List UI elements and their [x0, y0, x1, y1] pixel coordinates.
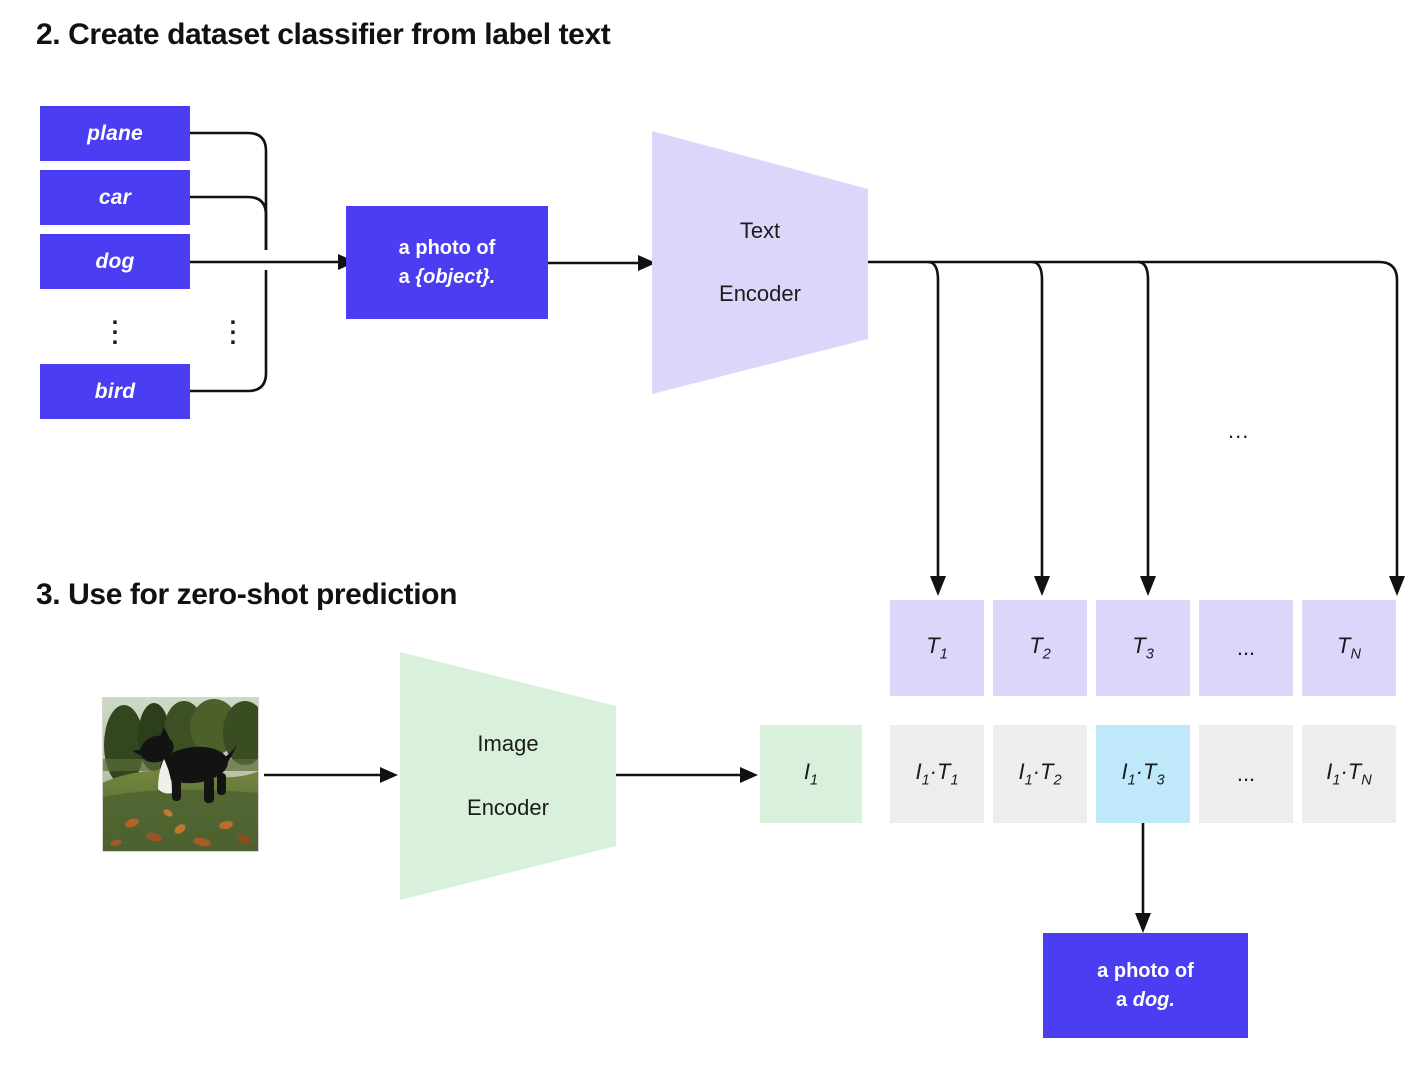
text-embedding-cell-ellipsis: ... [1199, 600, 1293, 696]
prediction-line-1: a photo of [1097, 957, 1194, 986]
prediction-line-2-class: dog. [1133, 989, 1175, 1011]
step3-heading: 3. Use for zero-shot prediction [36, 578, 457, 612]
prediction-output-box[interactable]: a photo of a dog. [1043, 933, 1248, 1038]
similarity-cell-3-highlighted[interactable]: I1·T3 [1096, 725, 1190, 823]
similarity-cell-2[interactable]: I1·T2 [993, 725, 1087, 823]
arrowhead-to-t2 [1034, 576, 1050, 596]
arrow-image-encoder-to-embedding [616, 762, 764, 788]
text-embedding-label-2: T2 [1029, 633, 1051, 662]
prediction-line-2: a dog. [1116, 986, 1175, 1015]
input-photo-thumbnail[interactable] [102, 697, 259, 852]
similarity-cell-ellipsis: ... [1199, 725, 1293, 823]
text-encoder-label: Text Encoder [652, 131, 868, 394]
image-encoder-line-2: Encoder [467, 792, 549, 824]
arrowhead-to-tn [1389, 576, 1405, 596]
clip-diagram-canvas: 2. Create dataset classifier from label … [0, 0, 1416, 1066]
prompt-template-box[interactable]: a photo of a {object}. [346, 206, 548, 319]
arrowhead-to-t3 [1140, 576, 1156, 596]
text-embedding-label-1: T1 [926, 633, 948, 662]
arrowhead-to-t1 [930, 576, 946, 596]
image-embedding-label: I1 [804, 759, 818, 788]
similarity-cell-1[interactable]: I1·T1 [890, 725, 984, 823]
prompt-line-2: a {object}. [399, 263, 496, 292]
arrow-prompt-to-text-encoder [548, 250, 663, 276]
prompt-line-2-placeholder: {object}. [415, 266, 495, 288]
text-encoder-line-1: Text [719, 215, 801, 247]
routing-column-ellipsis: ... [1228, 418, 1249, 444]
text-embedding-cell-3[interactable]: T3 [1096, 600, 1190, 696]
text-embedding-cell-n[interactable]: TN [1302, 600, 1396, 696]
similarity-label-n: I1·TN [1326, 759, 1371, 788]
similarity-label-2: I1·T2 [1018, 759, 1061, 788]
prediction-line-2-prefix: a [1116, 989, 1133, 1011]
text-embedding-label-n: TN [1337, 633, 1361, 662]
image-encoder-label: Image Encoder [400, 652, 616, 900]
text-embedding-cell-1[interactable]: T1 [890, 600, 984, 696]
similarity-cell-n[interactable]: I1·TN [1302, 725, 1396, 823]
similarity-label-3: I1·T3 [1121, 759, 1164, 788]
image-embedding-cell[interactable]: I1 [760, 725, 862, 823]
text-embedding-cell-2[interactable]: T2 [993, 600, 1087, 696]
text-encoder-line-2: Encoder [719, 278, 801, 310]
step2-heading: 2. Create dataset classifier from label … [36, 18, 610, 52]
arrow-similarity-to-prediction [1130, 823, 1156, 935]
text-encoder-output-routing [860, 248, 1416, 604]
image-encoder-line-1: Image [467, 728, 549, 760]
prompt-line-1: a photo of [399, 234, 496, 263]
prompt-line-2-prefix: a [399, 266, 416, 288]
text-embedding-label-3: T3 [1132, 633, 1154, 662]
arrow-photo-to-image-encoder [264, 762, 404, 788]
similarity-label-1: I1·T1 [915, 759, 958, 788]
